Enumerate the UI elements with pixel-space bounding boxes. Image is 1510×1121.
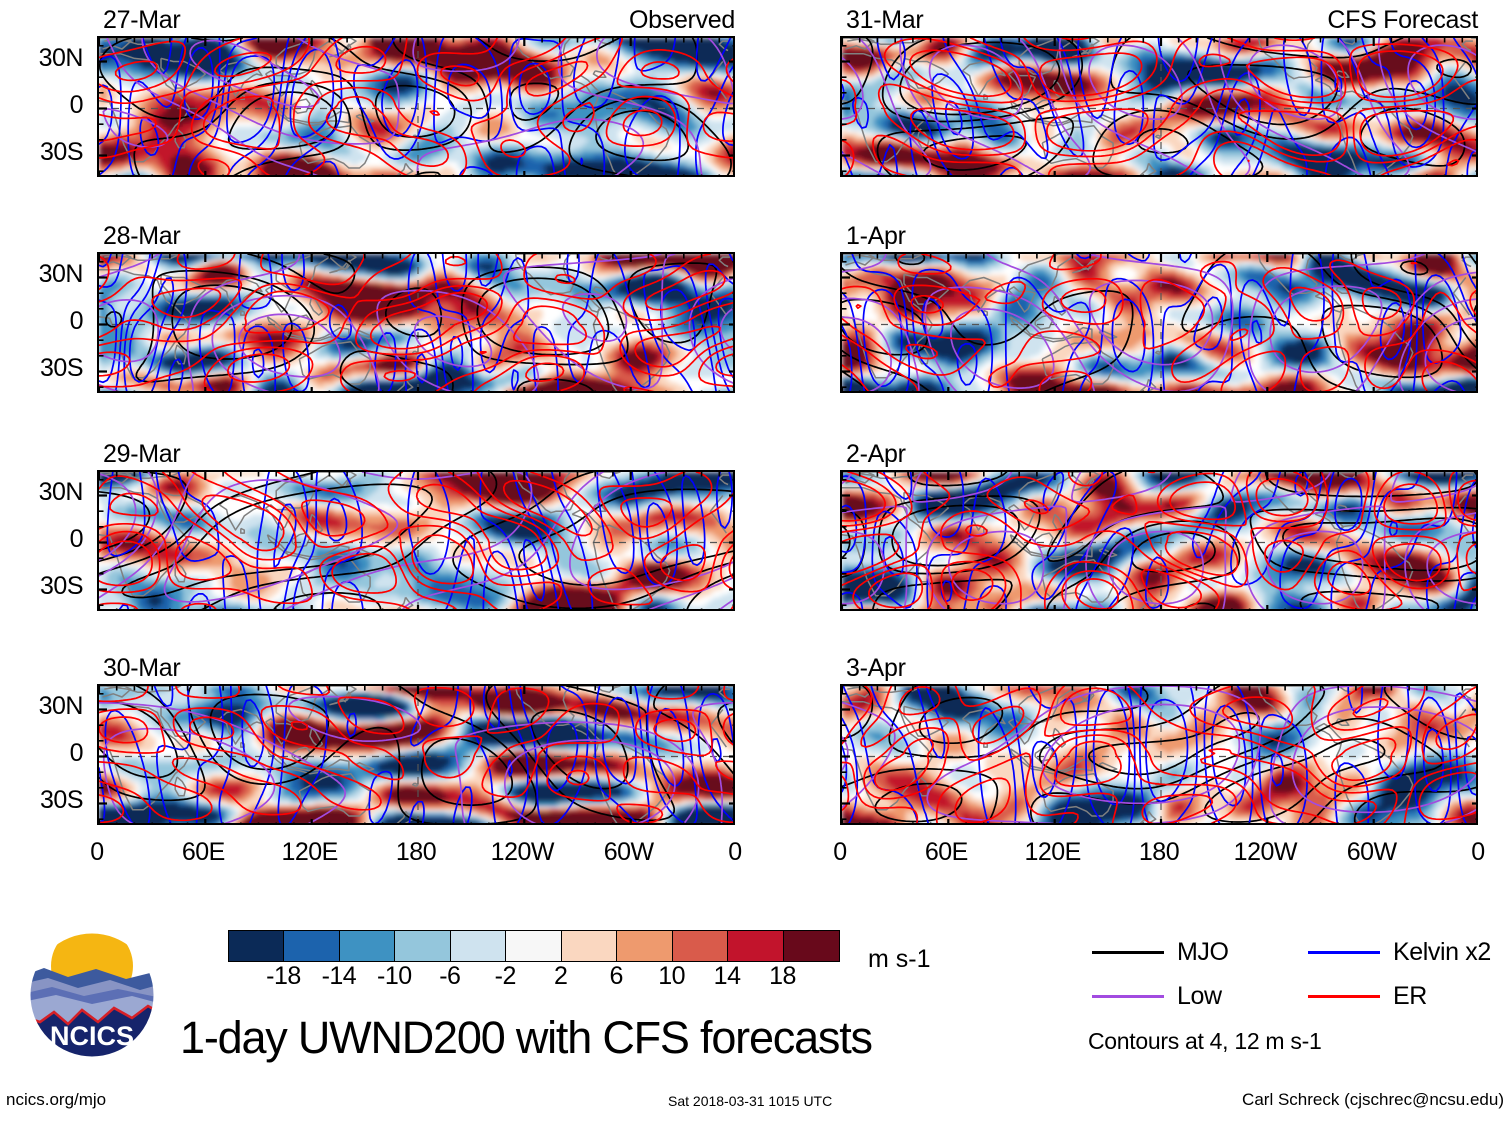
colorbar-band xyxy=(284,931,339,961)
legend-label-er: ER xyxy=(1393,982,1427,1011)
legend-label-low: Low xyxy=(1177,982,1222,1011)
map-panel-29-mar[interactable] xyxy=(97,470,735,611)
y-tick-label: 30N xyxy=(0,260,83,289)
ncics-logo-svg: NCICS xyxy=(22,932,162,1058)
y-tick-label: 30N xyxy=(0,478,83,507)
legend-line-low xyxy=(1092,995,1164,998)
main-title: 1-day UWND200 with CFS forecasts xyxy=(180,1012,872,1064)
footer-right: Carl Schreck (cjschrec@ncsu.edu) xyxy=(1242,1090,1504,1110)
panel-date-29-mar: 29-Mar xyxy=(103,440,180,469)
colorbar-band xyxy=(506,931,561,961)
map-panel-30-mar[interactable] xyxy=(97,684,735,825)
map-panel-2-apr[interactable] xyxy=(840,470,1478,611)
map-canvas xyxy=(99,38,735,177)
map-canvas xyxy=(99,254,735,393)
ncics-logo: NCICS xyxy=(22,932,162,1058)
y-tick-label: 0 xyxy=(0,307,83,336)
contour-legend: MJO Kelvin x2 Low ER xyxy=(1092,938,1492,1018)
panel-date-2-apr: 2-Apr xyxy=(846,440,906,469)
legend-item-low: Low xyxy=(1092,982,1222,1011)
y-tick-label: 0 xyxy=(0,739,83,768)
colorbar-band xyxy=(617,931,672,961)
legend-label-mjo: MJO xyxy=(1177,938,1229,967)
x-tick-label: 180 xyxy=(1109,838,1209,867)
map-canvas xyxy=(842,254,1478,393)
x-tick-label: 60W xyxy=(1322,838,1422,867)
x-tick-label: 0 xyxy=(1428,838,1510,867)
legend-item-mjo: MJO xyxy=(1092,938,1229,967)
map-panel-27-mar[interactable] xyxy=(97,36,735,177)
panel-date-28-mar: 28-Mar xyxy=(103,222,180,251)
colorbar-band xyxy=(673,931,728,961)
y-tick-label: 30S xyxy=(0,354,83,383)
map-canvas xyxy=(99,686,735,825)
contour-interval-note: Contours at 4, 12 m s-1 xyxy=(1088,1028,1321,1055)
colorbar-units-label: m s-1 xyxy=(868,945,931,974)
y-tick-label: 0 xyxy=(0,525,83,554)
legend-line-kelvin xyxy=(1308,951,1380,954)
map-panel-1-apr[interactable] xyxy=(840,252,1478,393)
y-tick-label: 30S xyxy=(0,138,83,167)
y-tick-label: 30N xyxy=(0,44,83,73)
colorbar-band xyxy=(340,931,395,961)
colorbar-band xyxy=(562,931,617,961)
legend-label-kelvin: Kelvin x2 xyxy=(1393,938,1491,967)
x-tick-label: 120E xyxy=(260,838,360,867)
panel-date-30-mar: 30-Mar xyxy=(103,654,180,683)
y-tick-label: 30S xyxy=(0,572,83,601)
map-canvas xyxy=(99,472,735,611)
map-canvas xyxy=(842,686,1478,825)
y-tick-label: 30S xyxy=(0,786,83,815)
x-tick-label: 120W xyxy=(472,838,572,867)
map-canvas xyxy=(842,472,1478,611)
panel-date-3-apr: 3-Apr xyxy=(846,654,906,683)
x-tick-label: 120W xyxy=(1215,838,1315,867)
map-panel-3-apr[interactable] xyxy=(840,684,1478,825)
y-tick-label: 0 xyxy=(0,91,83,120)
colorbar-tick-label: 18 xyxy=(743,962,823,991)
x-tick-label: 0 xyxy=(47,838,147,867)
shaded-field xyxy=(99,38,735,177)
legend-item-er: ER xyxy=(1308,982,1427,1011)
column-header-cfs-forecast: CFS Forecast xyxy=(840,6,1478,35)
legend-item-kelvin: Kelvin x2 xyxy=(1308,938,1491,967)
map-canvas xyxy=(842,38,1478,177)
x-tick-label: 60W xyxy=(579,838,679,867)
x-tick-label: 60E xyxy=(896,838,996,867)
colorbar-band xyxy=(395,931,450,961)
x-tick-label: 60E xyxy=(153,838,253,867)
figure-root: 27-MarObserved30N030S28-Mar30N030S29-Mar… xyxy=(0,0,1510,1121)
column-header-observed: Observed xyxy=(97,6,735,35)
colorbar-band xyxy=(451,931,506,961)
ncics-logo-text: NCICS xyxy=(50,1021,134,1051)
map-panel-31-mar[interactable] xyxy=(840,36,1478,177)
footer-left[interactable]: ncics.org/mjo xyxy=(6,1090,106,1110)
footer-center: Sat 2018-03-31 1015 UTC xyxy=(668,1093,832,1109)
colorbar-band xyxy=(784,931,839,961)
map-panel-28-mar[interactable] xyxy=(97,252,735,393)
x-tick-label: 0 xyxy=(685,838,785,867)
legend-line-er xyxy=(1308,995,1380,998)
legend-line-mjo xyxy=(1092,951,1164,954)
y-tick-label: 30N xyxy=(0,692,83,721)
x-tick-label: 180 xyxy=(366,838,466,867)
x-tick-label: 0 xyxy=(790,838,890,867)
colorbar xyxy=(228,930,840,962)
x-tick-label: 120E xyxy=(1003,838,1103,867)
colorbar-band xyxy=(229,931,284,961)
colorbar-band xyxy=(728,931,783,961)
panel-date-1-apr: 1-Apr xyxy=(846,222,906,251)
